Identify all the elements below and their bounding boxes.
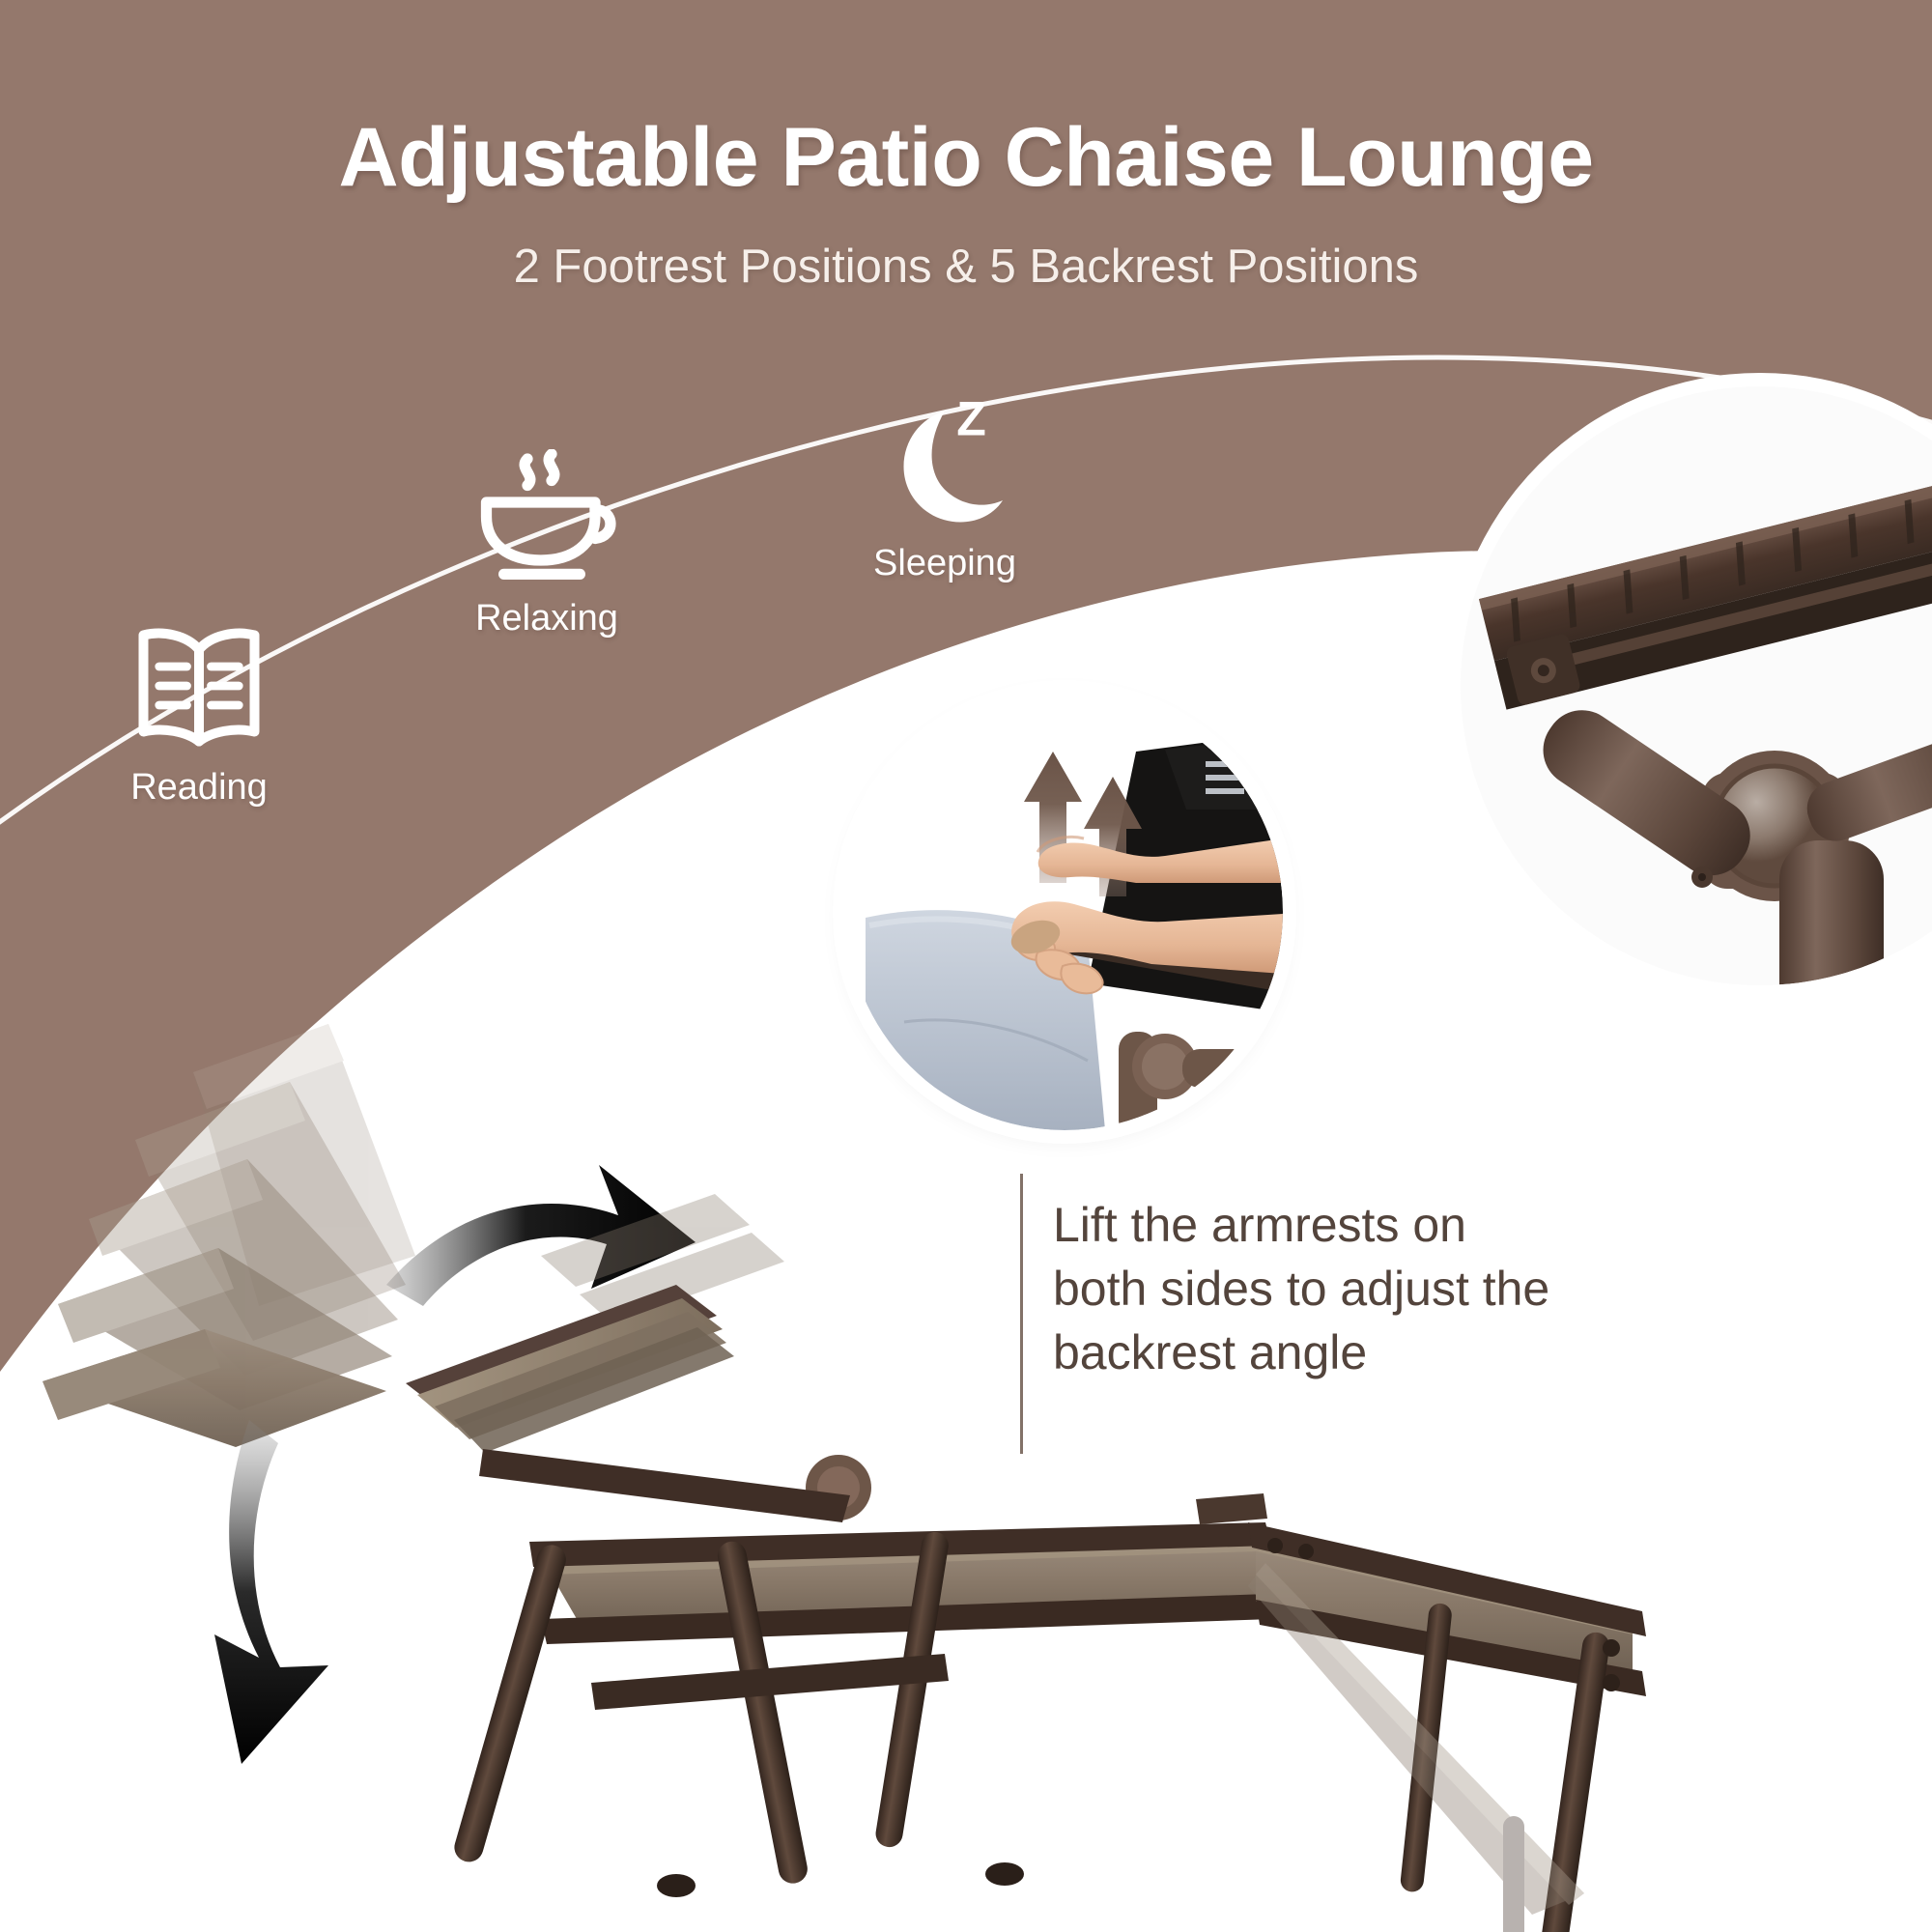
feature-label-relaxing: Relaxing (421, 598, 672, 639)
page-title: Adjustable Patio Chaise Lounge (0, 0, 1932, 199)
page-subtitle: 2 Footrest Positions & 5 Backrest Positi… (0, 199, 1932, 294)
svg-text:Z: Z (956, 394, 986, 446)
coffee-cup-icon (421, 449, 672, 584)
rear-leg-left (451, 1542, 570, 1865)
armrest-bar (1196, 1493, 1267, 1524)
open-book-icon (73, 618, 325, 753)
feature-reading: Reading (73, 618, 325, 809)
footrest (1248, 1522, 1646, 1932)
crescent-moon-z-icon: Z (819, 394, 1070, 529)
adjustable-chaise-lounge-illustration (0, 966, 1932, 1932)
chaise-frame (406, 1194, 1646, 1932)
feature-label-sleeping: Sleeping (819, 543, 1070, 584)
feature-label-reading: Reading (73, 767, 325, 809)
feature-relaxing: Relaxing (421, 449, 672, 639)
product-infographic: Adjustable Patio Chaise Lounge 2 Footres… (0, 0, 1932, 1932)
backrest-down-arrow (214, 1420, 328, 1764)
feature-sleeping: Z Sleeping (819, 394, 1070, 584)
header: Adjustable Patio Chaise Lounge 2 Footres… (0, 0, 1932, 294)
backrest-ghost-positions (43, 1024, 415, 1447)
